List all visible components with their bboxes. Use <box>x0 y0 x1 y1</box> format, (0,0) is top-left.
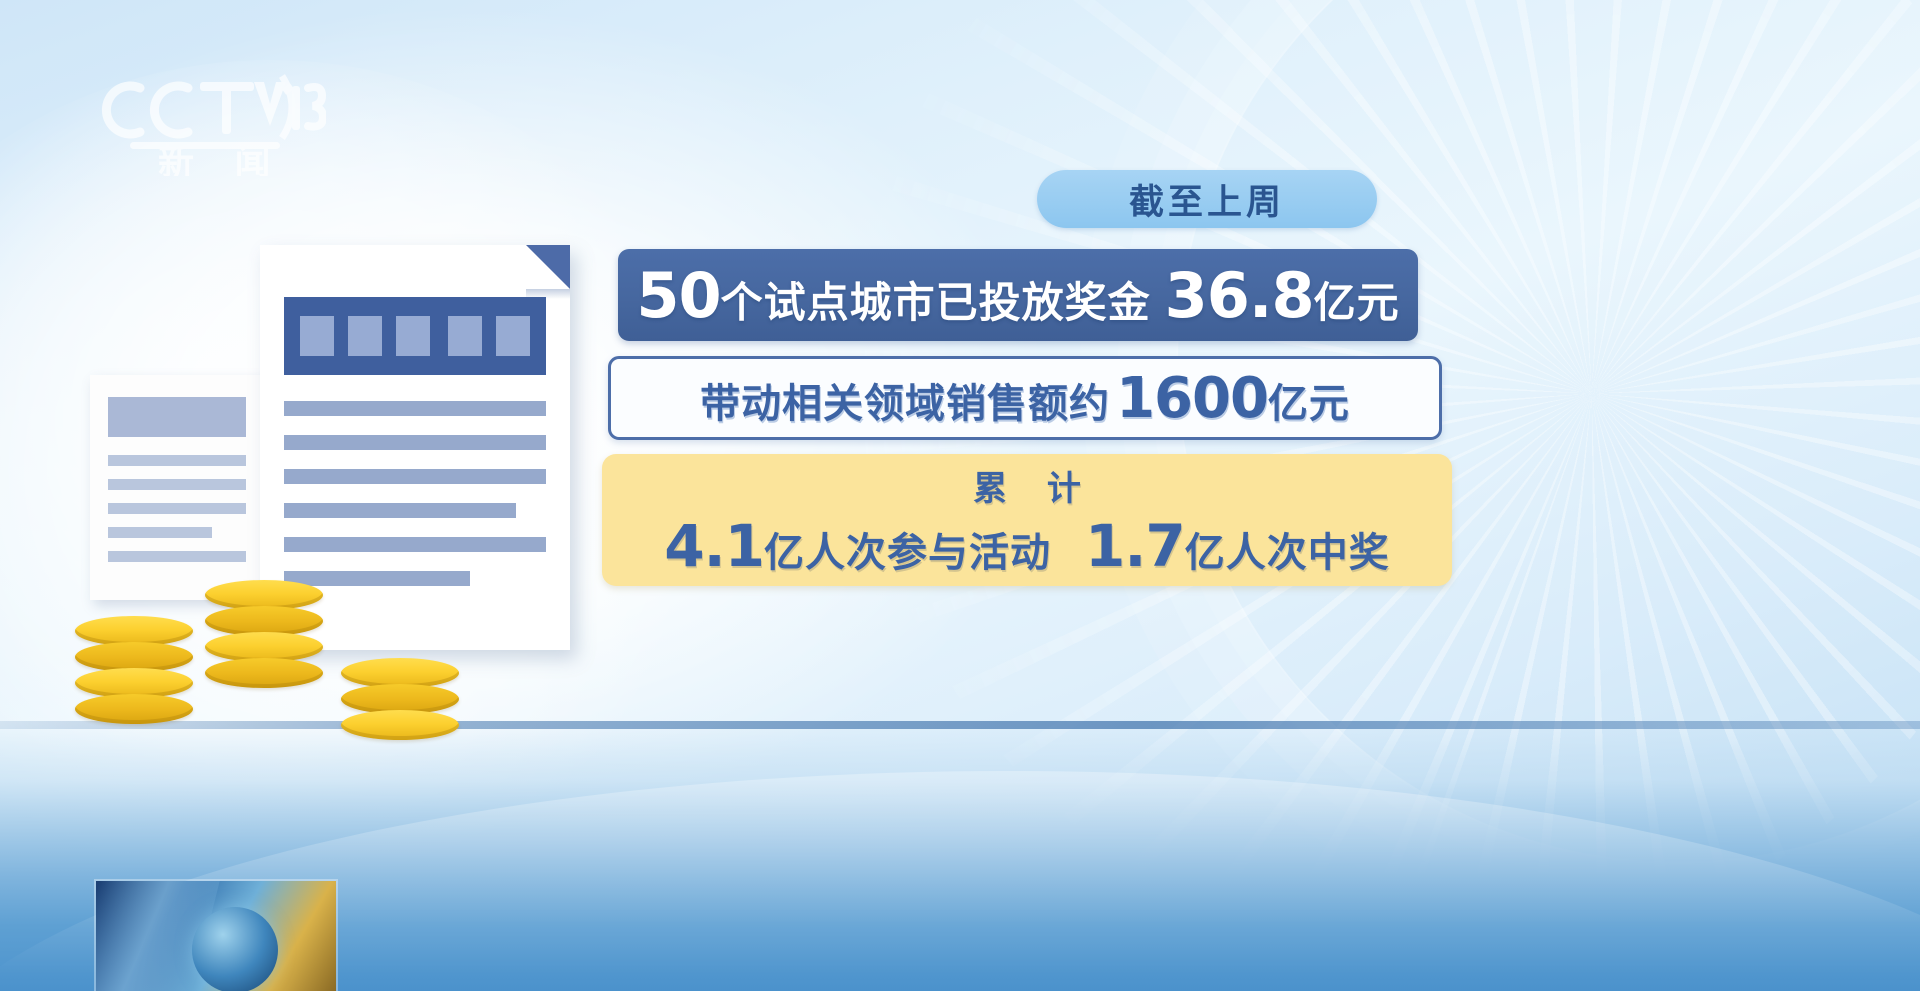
document-back-line <box>108 479 246 490</box>
stat-box-cumulative: 累 计 4.1 亿人次参与活动 1.7 亿人次中奖 <box>602 454 1452 586</box>
background-bottom-stripe <box>0 721 1920 729</box>
bonus-amount-value: 36.8 <box>1165 259 1314 332</box>
sales-label: 带动相关领域销售额约 <box>700 371 1110 429</box>
sales-unit: 亿元 <box>1268 371 1350 429</box>
as-of-pill-label: 截至上周 <box>1129 174 1285 225</box>
document-front-line <box>284 469 546 484</box>
bottom-thumbnail <box>96 881 336 991</box>
winners-label: 亿人次中奖 <box>1185 520 1390 578</box>
infographic-stage: 新 闻 <box>0 0 1920 991</box>
cumulative-label: 累 计 <box>959 461 1095 510</box>
pilot-cities-label: 个试点城市已投放奖金 <box>721 269 1151 330</box>
sales-value: 1600 <box>1116 366 1268 431</box>
as-of-pill: 截至上周 <box>1037 170 1377 228</box>
pilot-cities-value: 50 <box>636 259 720 332</box>
participants-label: 亿人次参与活动 <box>764 520 1051 578</box>
document-front-line <box>284 401 546 416</box>
document-front-line <box>284 503 516 518</box>
document-front-header-block <box>284 297 546 375</box>
cctv13-logo: 新 闻 <box>96 58 326 176</box>
winners-value: 1.7 <box>1085 512 1185 580</box>
bonus-amount-unit: 亿元 <box>1314 269 1400 330</box>
document-back-line <box>108 455 246 466</box>
stat-row-bonus: 50 个试点城市已投放奖金 36.8 亿元 <box>618 249 1418 341</box>
stat-row-sales: 带动相关领域销售额约 1600 亿元 <box>608 356 1442 440</box>
document-back-header-block <box>108 397 246 437</box>
coin-stacks <box>55 520 485 720</box>
page-fold-corner-icon <box>526 245 570 289</box>
svg-text:新 闻: 新 闻 <box>158 142 285 176</box>
stats-panel: 截至上周 50 个试点城市已投放奖金 36.8 亿元 带动相关领域销售额约 16… <box>600 170 1890 586</box>
document-back-line <box>108 503 246 514</box>
participants-value: 4.1 <box>664 512 764 580</box>
documents-illustration <box>55 230 615 710</box>
document-front-line <box>284 435 546 450</box>
globe-icon <box>192 907 278 991</box>
